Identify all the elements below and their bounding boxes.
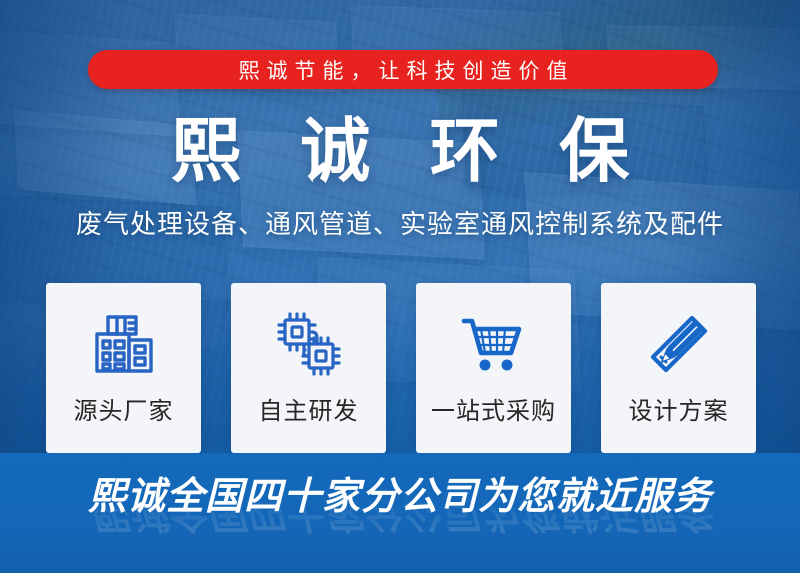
shopping-cart-icon xyxy=(457,307,531,381)
ruler-pencil-icon xyxy=(642,307,716,381)
footer-slogan: 熙诚全国四十家分公司为您就近服务 xyxy=(0,473,800,521)
microchip-icon xyxy=(272,307,346,381)
feature-card-label: 设计方案 xyxy=(629,397,729,427)
feature-card-list: 源头厂家 xyxy=(46,283,756,453)
slogan-pill-text: 熙诚节能，让科技创造价值 xyxy=(232,55,575,85)
promotional-banner: 熙诚节能，让科技创造价值 熙 诚 环 保 废气处理设备、通风管道、实验室通风控制… xyxy=(0,0,800,573)
feature-card-label: 自主研发 xyxy=(259,397,359,427)
page-subtitle: 废气处理设备、通风管道、实验室通风控制系统及配件 xyxy=(0,207,800,241)
feature-card-label: 一站式采购 xyxy=(431,397,556,427)
feature-card-label: 源头厂家 xyxy=(74,397,174,427)
footer-bar: 熙诚全国四十家分公司为您就近服务 熙诚全国四十家分公司为您就近服务 xyxy=(0,453,800,573)
factory-building-icon xyxy=(87,307,161,381)
feature-card-rnd[interactable]: 自主研发 xyxy=(231,283,386,453)
feature-card-design-plan[interactable]: 设计方案 xyxy=(601,283,756,453)
page-title: 熙 诚 环 保 xyxy=(0,112,800,190)
slogan-pill: 熙诚节能，让科技创造价值 xyxy=(88,50,718,89)
feature-card-one-stop-purchase[interactable]: 一站式采购 xyxy=(416,283,571,453)
feature-card-source-factory[interactable]: 源头厂家 xyxy=(46,283,201,453)
